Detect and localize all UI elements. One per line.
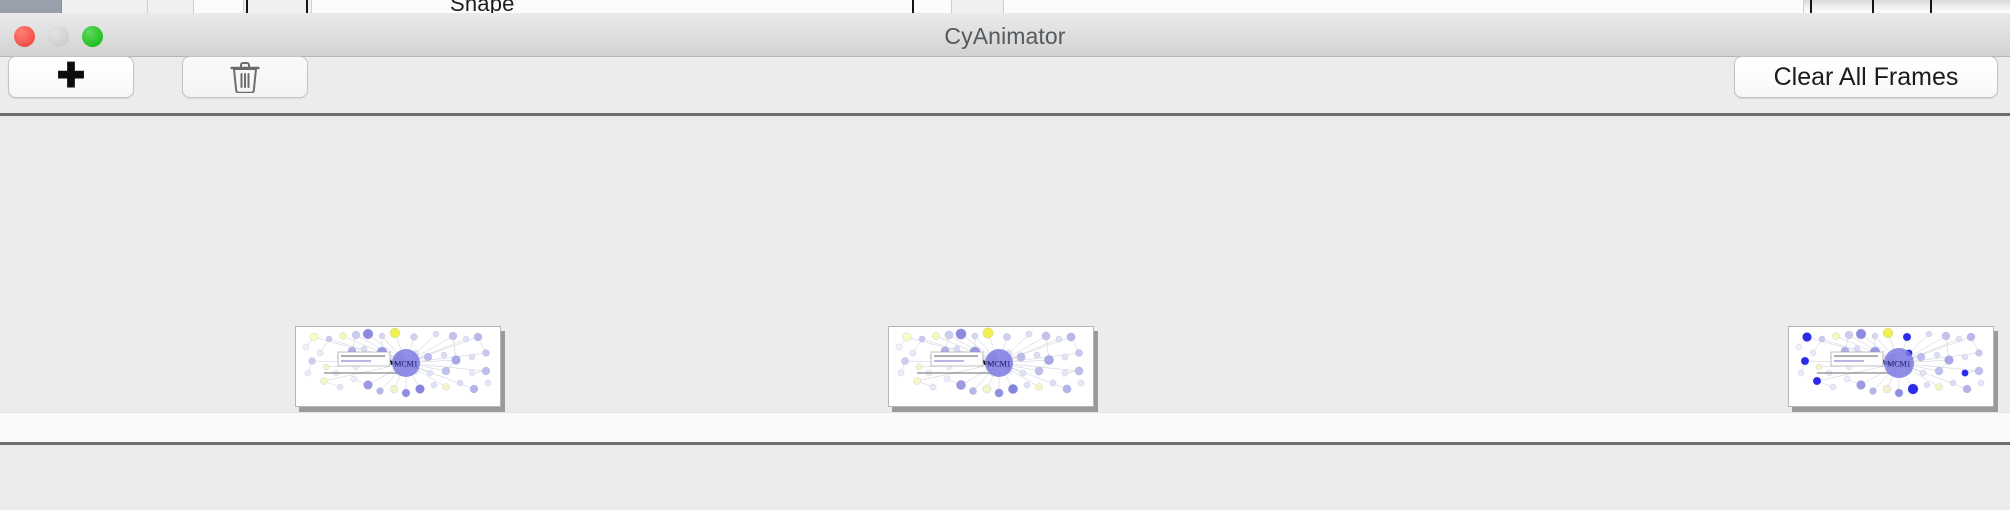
frame-thumbnail-2[interactable]: MCM1 (888, 326, 1098, 411)
frame-preview: MCM1 (888, 326, 1094, 407)
frame-thumbnail-3[interactable]: MCM1 (1788, 326, 1998, 411)
svg-text:MCM1: MCM1 (987, 360, 1011, 369)
plus-icon: ✚ (57, 59, 86, 93)
frame-thumbnail-1[interactable]: MCM1 (295, 326, 505, 411)
background-window-label: Shape (450, 0, 515, 13)
timeline-scrollbar-track[interactable] (0, 412, 2010, 442)
svg-text:MCM1: MCM1 (394, 360, 418, 369)
add-frame-button[interactable]: ✚ (8, 56, 134, 98)
timeline-panel[interactable]: MCM1MCM1MCM1 12131415161718 Seconds (0, 116, 2010, 412)
delete-frame-button[interactable] (182, 56, 308, 98)
frame-preview: MCM1 (295, 326, 501, 407)
clear-all-frames-button[interactable]: Clear All Frames (1734, 56, 1998, 98)
playback-control-bar: Animation Speed: (0, 445, 2010, 510)
clear-all-frames-label: Clear All Frames (1774, 63, 1959, 92)
network-graph: MCM1 (296, 327, 501, 407)
svg-text:MCM1: MCM1 (1887, 360, 1911, 369)
cyanimator-window: Shape CyAnimator ✚ Clear All Frames MCM1… (0, 0, 2010, 510)
window-title: CyAnimator (0, 23, 2010, 50)
network-graph: MCM1 (1789, 327, 1994, 407)
trash-icon (230, 61, 260, 93)
background-window-strip: Shape (0, 0, 2010, 13)
title-bar: CyAnimator (0, 13, 2010, 57)
network-graph: MCM1 (889, 327, 1094, 407)
frame-preview: MCM1 (1788, 326, 1994, 407)
